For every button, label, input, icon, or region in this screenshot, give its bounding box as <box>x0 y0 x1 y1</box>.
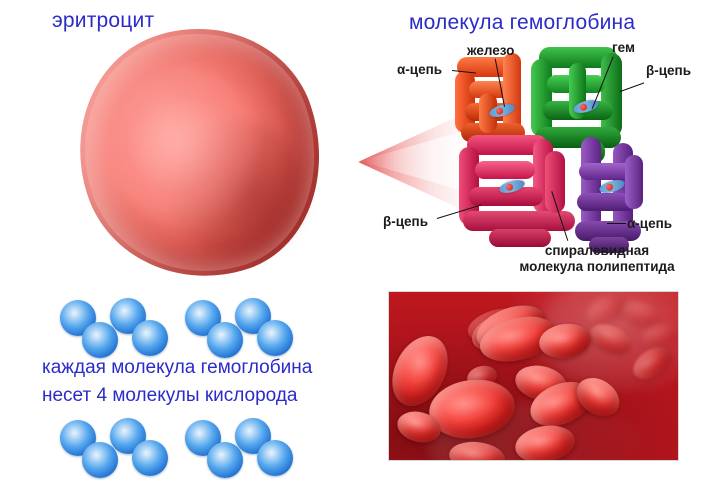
label-beta-chain-top-right: β-цепь <box>646 63 691 78</box>
oxygen-molecule-6 <box>110 418 172 476</box>
label-polypeptide-line2: молекула полипептида <box>504 259 690 275</box>
oxygen-molecule-8 <box>235 418 297 476</box>
iron-atom-4 <box>605 183 614 192</box>
iron-atom-2 <box>579 103 588 112</box>
label-beta-chain-bottom-left: β-цепь <box>383 214 428 229</box>
leader-line-alpha-chain-bottom-right <box>607 223 626 224</box>
oxygen-caption: каждая молекула гемоглобина несет 4 моле… <box>42 354 342 409</box>
slide-root: эритроцит молекула гемоглобина <box>0 0 720 480</box>
label-polypeptide-line1: спиралевидная <box>504 243 690 259</box>
oxygen-atom <box>257 440 293 476</box>
label-alpha-chain-top-left: α-цепь <box>397 62 442 77</box>
oxygen-atom <box>257 320 293 356</box>
oxygen-caption-line1: каждая молекула гемоглобина <box>42 354 342 382</box>
iron-atom-1 <box>495 107 504 116</box>
erythrocyte-rim-highlight <box>53 3 346 302</box>
oxygen-molecule-4 <box>235 298 297 356</box>
label-polypeptide: спиралевидная молекула полипептида <box>504 243 690 274</box>
label-alpha-chain-bottom-right: α-цепь <box>627 216 672 231</box>
oxygen-atom <box>132 440 168 476</box>
oxygen-atom <box>132 320 168 356</box>
oxygen-molecule-2 <box>110 298 172 356</box>
iron-atom-3 <box>505 183 514 192</box>
label-iron: железо <box>467 43 514 58</box>
red-blood-cells-photo <box>388 291 679 461</box>
label-heme: гем <box>612 40 635 55</box>
alpha-chain-subunit-2 <box>567 137 663 253</box>
hemoglobin-title: молекула гемоглобина <box>409 11 635 35</box>
erythrocyte-illustration <box>80 28 320 278</box>
oxygen-caption-line2: несет 4 молекулы кислорода <box>42 382 342 410</box>
